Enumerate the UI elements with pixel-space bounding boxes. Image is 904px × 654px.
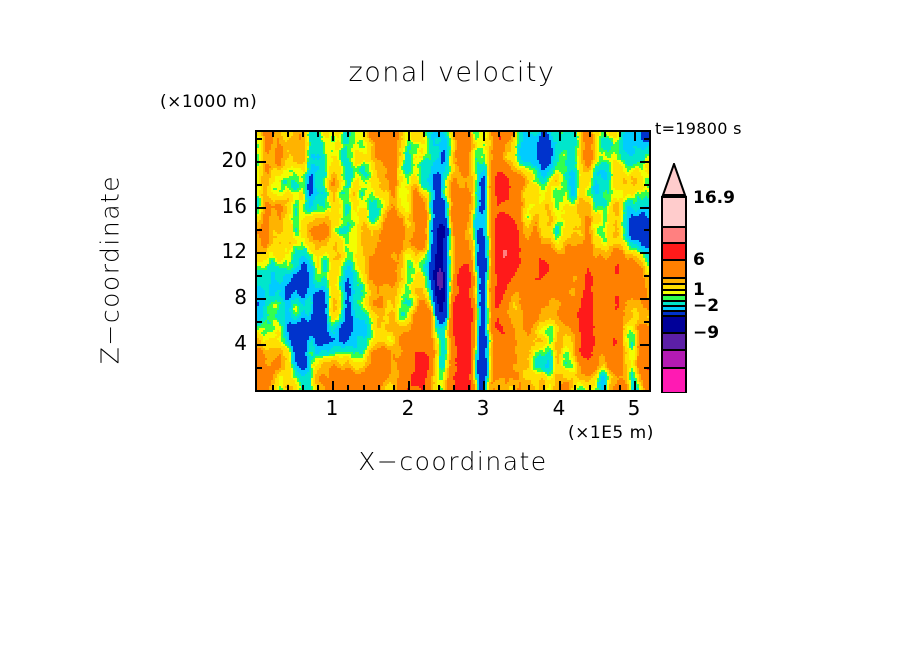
x-tick-major (408, 381, 410, 390)
colorbar-band-divider (663, 283, 685, 285)
y-tick-minor (644, 138, 649, 140)
x-tick-minor (589, 385, 591, 390)
x-tick-minor (528, 132, 530, 137)
colorbar-tick-label: 6 (693, 250, 705, 270)
plot-area (255, 130, 651, 392)
x-tick-minor (378, 132, 380, 137)
x-tick-minor (468, 385, 470, 390)
colorbar-band-divider (663, 305, 685, 307)
x-tick-minor (302, 132, 304, 137)
x-tick-minor (272, 385, 274, 390)
y-tick-major (257, 207, 266, 209)
x-tick-label: 2 (388, 396, 428, 420)
colorbar-band-divider (663, 294, 685, 296)
colorbar-band-divider (663, 349, 685, 351)
x-tick-minor (498, 385, 500, 390)
x-tick-minor (272, 132, 274, 137)
colorbar-band-divider (663, 367, 685, 369)
x-tick-minor (604, 385, 606, 390)
x-tick-minor (543, 132, 545, 137)
colorbar-band-divider (663, 226, 685, 228)
x-tick-minor (619, 385, 621, 390)
x-tick-minor (393, 385, 395, 390)
colorbar-band (663, 316, 685, 334)
x-tick-minor (287, 132, 289, 137)
y-tick-minor (644, 229, 649, 231)
x-tick-major (408, 132, 410, 141)
x-tick-minor (423, 385, 425, 390)
x-tick-major (634, 132, 636, 141)
y-axis-title: Z−coordinate (96, 155, 125, 385)
timestamp-annotation: t=19800 s (655, 119, 742, 138)
x-tick-minor (498, 132, 500, 137)
y-tick-minor (257, 138, 262, 140)
x-tick-minor (468, 132, 470, 137)
y-tick-label: 8 (207, 285, 247, 309)
x-tick-major (332, 381, 334, 390)
x-tick-minor (317, 132, 319, 137)
x-tick-minor (453, 385, 455, 390)
contour-plot-figure: zonal velocity (×1000 m) Z−coordinate X−… (0, 0, 904, 654)
colorbar-band (663, 368, 685, 392)
x-tick-minor (604, 132, 606, 137)
colorbar-band (663, 198, 685, 228)
x-tick-minor (363, 132, 365, 137)
y-tick-major (640, 298, 649, 300)
y-tick-minor (644, 275, 649, 277)
colorbar-band-divider (663, 242, 685, 244)
x-tick-minor (574, 132, 576, 137)
x-tick-minor (589, 132, 591, 137)
x-tick-minor (513, 132, 515, 137)
x-tick-minor (619, 132, 621, 137)
colorbar-band (663, 260, 685, 279)
y-tick-minor (257, 184, 262, 186)
colorbar-band-divider (663, 300, 685, 302)
x-tick-minor (543, 385, 545, 390)
heatmap-field (257, 132, 649, 390)
y-tick-minor (644, 367, 649, 369)
y-tick-major (257, 298, 266, 300)
y-tick-major (640, 161, 649, 163)
colorbar-band-divider (663, 332, 685, 334)
y-tick-major (257, 344, 266, 346)
y-tick-label: 4 (207, 331, 247, 355)
x-tick-minor (423, 132, 425, 137)
x-tick-minor (393, 132, 395, 137)
colorbar-tick-label: 16.9 (693, 188, 735, 208)
y-tick-label: 20 (207, 148, 247, 172)
colorbar-band-divider (663, 315, 685, 317)
x-tick-major (483, 381, 485, 390)
x-tick-minor (513, 385, 515, 390)
colorbar-band-divider (663, 289, 685, 291)
colorbar-band (663, 350, 685, 368)
colorbar-band-divider (663, 277, 685, 279)
y-tick-minor (257, 367, 262, 369)
x-tick-label: 3 (463, 396, 503, 420)
x-tick-minor (317, 385, 319, 390)
y-axis-unit-label: (×1000 m) (160, 92, 257, 112)
y-tick-major (257, 161, 266, 163)
x-tick-minor (302, 385, 304, 390)
page-title: zonal velocity (0, 57, 904, 88)
x-tick-label: 5 (614, 396, 654, 420)
x-tick-minor (528, 385, 530, 390)
x-tick-major (332, 132, 334, 141)
y-tick-minor (257, 229, 262, 231)
x-tick-minor (453, 132, 455, 137)
x-tick-label: 1 (312, 396, 352, 420)
colorbar-band-divider (663, 310, 685, 312)
x-tick-major (483, 132, 485, 141)
y-tick-minor (644, 321, 649, 323)
x-tick-minor (287, 385, 289, 390)
x-tick-minor (363, 385, 365, 390)
x-tick-major (559, 381, 561, 390)
x-tick-major (559, 132, 561, 141)
x-tick-minor (347, 385, 349, 390)
x-tick-label: 4 (539, 396, 579, 420)
x-tick-major (634, 381, 636, 390)
y-tick-label: 12 (207, 239, 247, 263)
colorbar-arrow-icon (661, 163, 687, 196)
x-tick-minor (438, 385, 440, 390)
x-tick-minor (378, 385, 380, 390)
y-tick-major (257, 252, 266, 254)
y-tick-minor (644, 184, 649, 186)
y-tick-minor (257, 275, 262, 277)
x-tick-minor (347, 132, 349, 137)
y-tick-minor (257, 321, 262, 323)
x-axis-title: X−coordinate (255, 447, 651, 476)
y-tick-label: 16 (207, 194, 247, 218)
x-tick-minor (438, 132, 440, 137)
y-tick-major (640, 207, 649, 209)
y-tick-major (640, 344, 649, 346)
colorbar-band-divider (663, 259, 685, 261)
colorbar-tick-label: −2 (693, 296, 719, 316)
colorbar-band (663, 333, 685, 351)
y-tick-major (640, 252, 649, 254)
colorbar-tick-label: −9 (693, 323, 719, 343)
x-tick-minor (574, 385, 576, 390)
colorbar-bands (661, 196, 687, 393)
x-axis-unit-label: (×1E5 m) (568, 423, 654, 443)
colorbar (661, 163, 687, 393)
